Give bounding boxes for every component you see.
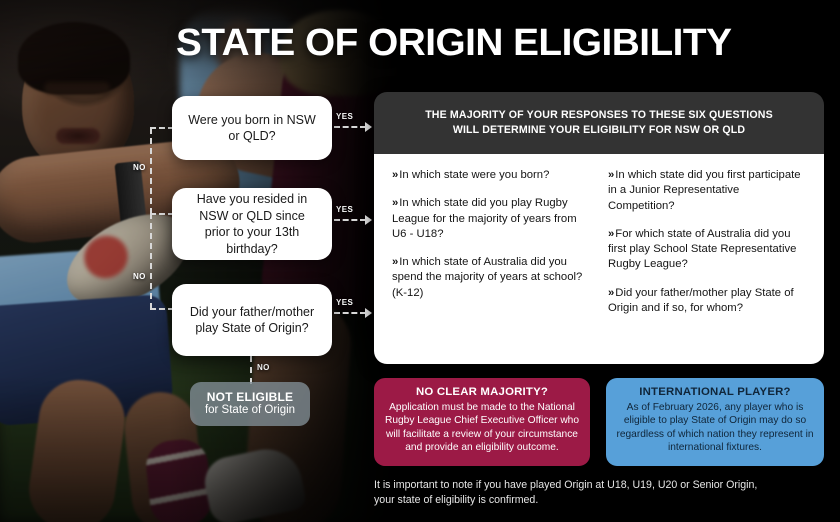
- main-card-header-line-1: THE MAJORITY OF YOUR RESPONSES TO THESE …: [425, 108, 773, 123]
- not-eligible-subtitle: for State of Origin: [205, 404, 295, 418]
- question-column-left: »In which state were you born? »In which…: [392, 168, 600, 354]
- international-player-body: As of February 2026, any player who is e…: [616, 401, 814, 455]
- yes-line-q1: [334, 126, 366, 128]
- question-box-1[interactable]: Were you born in NSW or QLD?: [172, 96, 332, 160]
- question-text: Did your father/mother play State of Ori…: [608, 287, 794, 314]
- list-item: »In which state did you first participat…: [608, 168, 806, 214]
- yes-arrowhead-q3: [365, 308, 372, 318]
- question-text: In which state were you born?: [399, 169, 549, 181]
- connector-no-q1-to-q2: [150, 128, 152, 214]
- international-player-title: INTERNATIONAL PLAYER?: [616, 386, 814, 398]
- yes-label-q1: YES: [336, 112, 353, 121]
- question-box-3-text: Did your father/mother play State of Ori…: [186, 304, 318, 337]
- chevron-double-right-icon: »: [608, 228, 613, 240]
- main-card-body: »In which state were you born? »In which…: [374, 154, 824, 364]
- question-box-2-text: Have you resided in NSW or QLD since pri…: [186, 191, 318, 257]
- international-player-panel: INTERNATIONAL PLAYER? As of February 202…: [606, 378, 824, 466]
- photo-fade-overlay: [0, 0, 400, 522]
- yes-line-q2: [334, 219, 366, 221]
- not-eligible-box: NOT ELIGIBLE for State of Origin: [190, 382, 310, 426]
- chevron-double-right-icon: »: [392, 197, 397, 209]
- footnote-text: It is important to note if you have play…: [374, 478, 774, 507]
- connector-no-q3-to-not-eligible: [250, 356, 252, 384]
- connector-no-q2-stub: [150, 213, 174, 215]
- question-text: In which state did you first participate…: [608, 169, 801, 212]
- yes-arrowhead-q2: [365, 215, 372, 225]
- question-box-2[interactable]: Have you resided in NSW or QLD since pri…: [172, 188, 332, 260]
- list-item: »In which state did you play Rugby Leagu…: [392, 196, 590, 242]
- chevron-double-right-icon: »: [608, 287, 613, 299]
- connector-no-q2-to-q3: [150, 213, 152, 309]
- list-item: »In which state of Australia did you spe…: [392, 255, 590, 301]
- question-box-3[interactable]: Did your father/mother play State of Ori…: [172, 284, 332, 356]
- yes-label-q3: YES: [336, 298, 353, 307]
- main-card-header-line-2: WILL DETERMINE YOUR ELIGIBILITY FOR NSW …: [425, 123, 773, 138]
- no-clear-majority-title: NO CLEAR MAJORITY?: [384, 386, 580, 398]
- question-box-1-text: Were you born in NSW or QLD?: [186, 112, 318, 145]
- question-text: For which state of Australia did you fir…: [608, 228, 796, 271]
- list-item: »In which state were you born?: [392, 168, 590, 183]
- list-item: »For which state of Australia did you fi…: [608, 227, 806, 273]
- no-clear-majority-body: Application must be made to the National…: [384, 401, 580, 455]
- connector-no-q3-stub: [150, 308, 174, 310]
- connector-no-q1-stub: [150, 127, 174, 129]
- yes-label-q2: YES: [336, 205, 353, 214]
- question-text: In which state did you play Rugby League…: [392, 197, 577, 240]
- chevron-double-right-icon: »: [608, 169, 613, 181]
- list-item: »Did your father/mother play State of Or…: [608, 286, 806, 317]
- yes-arrowhead-q1: [365, 122, 372, 132]
- question-column-right: »In which state did you first participat…: [600, 168, 806, 354]
- no-label-q3: NO: [257, 363, 270, 372]
- no-clear-majority-panel: NO CLEAR MAJORITY? Application must be m…: [374, 378, 590, 466]
- no-label-q1: NO: [133, 163, 146, 172]
- no-label-q2: NO: [133, 272, 146, 281]
- not-eligible-title: NOT ELIGIBLE: [207, 390, 293, 404]
- yes-line-q3: [334, 312, 366, 314]
- main-eligibility-card: THE MAJORITY OF YOUR RESPONSES TO THESE …: [374, 92, 824, 364]
- question-text: In which state of Australia did you spen…: [392, 256, 582, 299]
- main-card-header: THE MAJORITY OF YOUR RESPONSES TO THESE …: [374, 92, 824, 154]
- page-title: STATE OF ORIGIN ELIGIBILITY: [176, 22, 731, 65]
- chevron-double-right-icon: »: [392, 256, 397, 268]
- background-photo: [0, 0, 400, 522]
- chevron-double-right-icon: »: [392, 169, 397, 181]
